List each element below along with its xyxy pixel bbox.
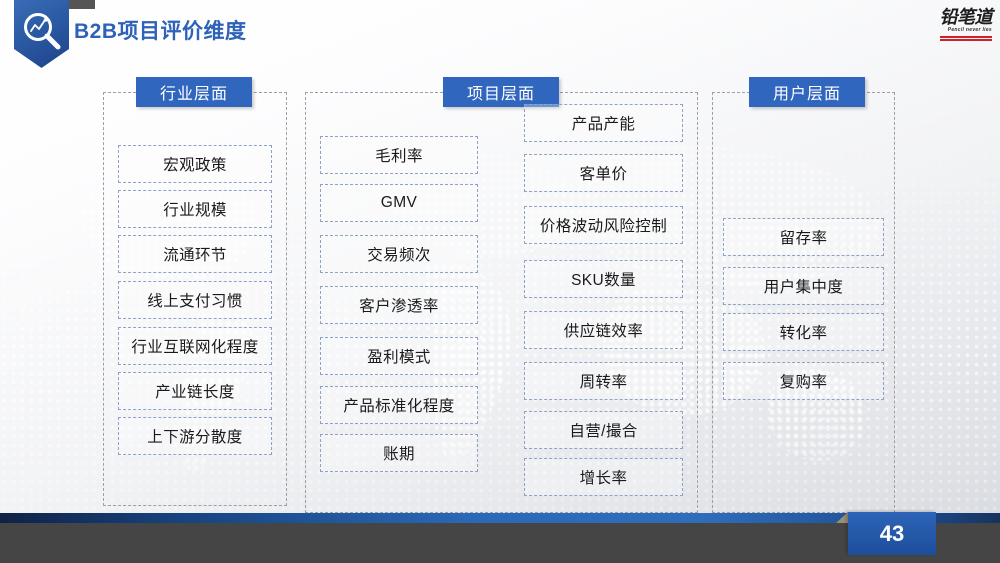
item-box[interactable]: 流通环节 <box>118 235 272 273</box>
item-box[interactable]: 上下游分散度 <box>118 417 272 455</box>
column-badge-user[interactable]: 用户层面 <box>749 77 865 107</box>
brand-rule-lines <box>940 35 992 41</box>
item-box[interactable]: 账期 <box>320 434 478 472</box>
item-box[interactable]: 留存率 <box>723 218 884 256</box>
page-number-notch <box>836 512 848 523</box>
slide-canvas: B2B项目评价维度 铅笔道 Pencil never lies 行业层面 项目层… <box>0 0 1000 563</box>
item-box[interactable]: 产品标准化程度 <box>320 386 478 424</box>
item-box[interactable]: 产品产能 <box>524 104 683 142</box>
item-box[interactable]: SKU数量 <box>524 260 683 298</box>
item-box[interactable]: 客单价 <box>524 154 683 192</box>
magnifier-chart-icon <box>14 8 69 53</box>
brand-logo: 铅笔道 Pencil never lies <box>908 8 992 42</box>
item-box[interactable]: 毛利率 <box>320 136 478 174</box>
item-box[interactable]: 盈利模式 <box>320 337 478 375</box>
item-box[interactable]: 交易频次 <box>320 235 478 273</box>
item-box[interactable]: 自营/撮合 <box>524 411 683 449</box>
item-box[interactable]: 行业规模 <box>118 190 272 228</box>
item-box[interactable]: 宏观政策 <box>118 145 272 183</box>
item-box[interactable]: 线上支付习惯 <box>118 281 272 319</box>
item-box[interactable]: 供应链效率 <box>524 311 683 349</box>
page-title: B2B项目评价维度 <box>74 15 247 45</box>
item-box[interactable]: 用户集中度 <box>723 267 884 305</box>
item-box[interactable]: 客户渗透率 <box>320 286 478 324</box>
item-box[interactable]: 行业互联网化程度 <box>118 327 272 365</box>
brand-tagline: Pencil never lies <box>948 27 992 34</box>
item-box[interactable]: 价格波动风险控制 <box>524 206 683 244</box>
item-box[interactable]: GMV <box>320 184 478 222</box>
item-box[interactable]: 增长率 <box>524 458 683 496</box>
item-box[interactable]: 产业链长度 <box>118 372 272 410</box>
item-box[interactable]: 复购率 <box>723 362 884 400</box>
column-badge-industry[interactable]: 行业层面 <box>136 77 252 107</box>
brand-name-cn: 铅笔道 <box>940 9 993 27</box>
item-box[interactable]: 周转率 <box>524 362 683 400</box>
page-number-badge: 43 <box>848 512 936 555</box>
column-badge-project[interactable]: 项目层面 <box>443 77 559 107</box>
item-box[interactable]: 转化率 <box>723 313 884 351</box>
